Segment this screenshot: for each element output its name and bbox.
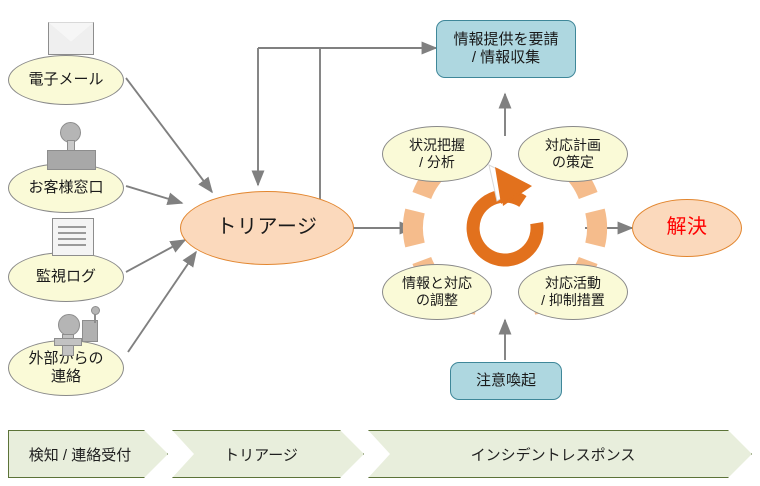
- service-desk-person-icon: [44, 122, 102, 168]
- triage-node[interactable]: トリアージ: [180, 191, 354, 265]
- source-node-email[interactable]: 電子メール: [8, 55, 124, 105]
- edge-external-triage: [128, 252, 196, 352]
- envelope-icon: [48, 22, 96, 57]
- phase-chevron-detect[interactable]: 検知 / 連絡受付: [8, 430, 168, 478]
- cycle-assess-line2: / 分析: [419, 154, 455, 171]
- triage-label: トリアージ: [217, 216, 318, 240]
- source-label-customer-desk: お客様窓口: [28, 179, 103, 197]
- ring-arc-left: [413, 211, 415, 245]
- cycle-coordinate-line1: 情報と対応: [402, 275, 472, 292]
- cycle-node-coordinate[interactable]: 情報と対応 の調整: [382, 264, 492, 320]
- source-node-monitoring-log[interactable]: 監視ログ: [8, 252, 124, 302]
- phase-label-triage: トリアージ: [220, 444, 316, 465]
- resolution-node[interactable]: 解決: [632, 199, 742, 257]
- cycle-coordinate-line2: の調整: [416, 292, 458, 309]
- circular-refresh-arrow-icon: [461, 165, 550, 272]
- cycle-assess-line1: 状況把握: [409, 137, 465, 154]
- cycle-containment-line2: / 抑制措置: [541, 292, 605, 309]
- alert-label: 注意喚起: [476, 372, 536, 390]
- source-node-customer-desk[interactable]: お客様窓口: [8, 163, 124, 213]
- cycle-containment-line1: 対応活動: [545, 275, 601, 292]
- ring-arc-right: [595, 211, 597, 245]
- source-label-monitoring-log: 監視ログ: [36, 268, 96, 286]
- resolution-label: 解決: [667, 216, 708, 240]
- cycle-plan-line2: の策定: [552, 154, 594, 171]
- person-with-phone-icon: [50, 308, 110, 356]
- phase-label-response: インシデントレスポンス: [467, 444, 654, 465]
- phase-chevron-response[interactable]: インシデントレスポンス: [368, 430, 752, 478]
- info-request-box[interactable]: 情報提供を要請 / 情報収集: [436, 20, 576, 78]
- edge-customer-triage: [126, 186, 182, 203]
- alert-box[interactable]: 注意喚起: [450, 362, 562, 400]
- source-label-external-contact-line2: 連絡: [51, 368, 81, 386]
- source-label-email: 電子メール: [28, 71, 103, 89]
- cycle-node-plan[interactable]: 対応計画 の策定: [518, 126, 628, 182]
- edge-email-triage: [126, 78, 212, 192]
- info-request-line1: 情報提供を要請: [453, 31, 558, 49]
- cycle-node-containment[interactable]: 対応活動 / 抑制措置: [518, 264, 628, 320]
- document-log-icon: [52, 218, 96, 258]
- cycle-node-assess[interactable]: 状況把握 / 分析: [382, 126, 492, 182]
- phase-label-detect: 検知 / 連絡受付: [25, 444, 152, 465]
- edge-log-triage: [126, 240, 185, 272]
- cycle-plan-line1: 対応計画: [545, 137, 601, 154]
- info-request-line2: / 情報収集: [472, 49, 540, 67]
- diagram-canvas: 電子メール お客様窓口 監視ログ 外部からの 連絡 トリアージ 情報提供を要: [0, 0, 760, 486]
- phase-band: 検知 / 連絡受付 トリアージ インシデントレスポンス: [8, 430, 752, 478]
- phase-chevron-triage[interactable]: トリアージ: [172, 430, 364, 478]
